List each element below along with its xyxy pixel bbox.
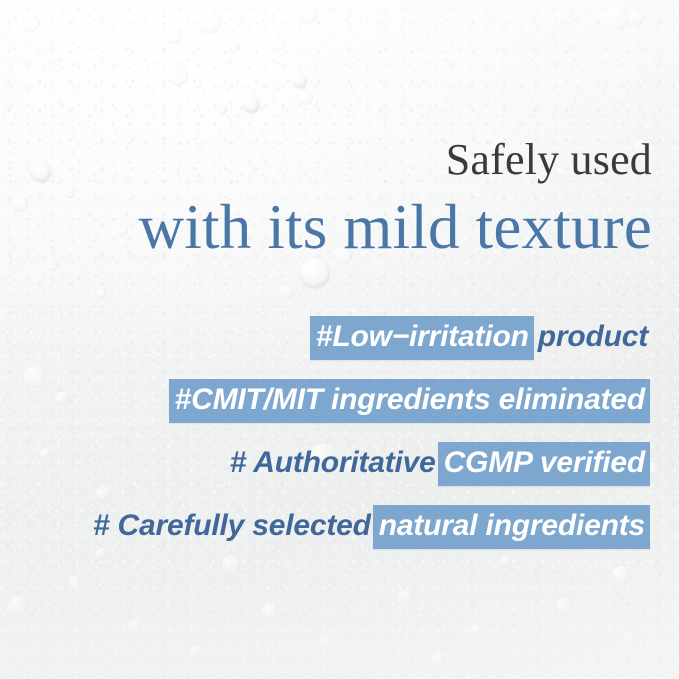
highlighted-text-segment: natural ingredients: [373, 505, 650, 549]
plain-text-segment: product: [534, 316, 650, 360]
highlighted-text-segment: #CMIT/MIT ingredients eliminated: [169, 379, 650, 423]
plain-text-segment: # Carefully selected: [89, 505, 373, 549]
feature-bullet-natural-ingredients: # Carefully selectednatural ingredients: [0, 505, 650, 549]
feature-bullet-list: #Low−irritationproduct#CMIT/MIT ingredie…: [0, 316, 650, 549]
highlighted-text-segment: #Low−irritation: [310, 316, 534, 360]
promo-banner: Safely used with its mild texture #Low−i…: [0, 0, 679, 679]
feature-bullet-low-irritation: #Low−irritationproduct: [0, 316, 650, 360]
headline-line-2: with its mild texture: [0, 190, 652, 264]
plain-text-segment: # Authoritative: [226, 442, 438, 486]
headline-line-1: Safely used: [0, 134, 652, 186]
feature-bullet-cgmp: # AuthoritativeCGMP verified: [0, 442, 650, 486]
feature-bullet-cmit-mit: #CMIT/MIT ingredients eliminated: [0, 379, 650, 423]
highlighted-text-segment: CGMP verified: [438, 442, 650, 486]
